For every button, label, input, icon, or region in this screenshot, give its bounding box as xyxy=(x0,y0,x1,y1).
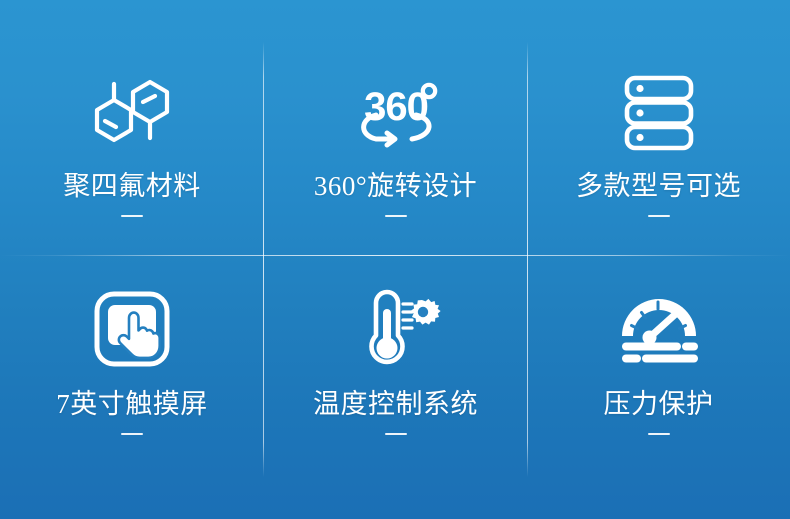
feature-title: 多款型号可选 xyxy=(576,172,741,202)
feature-cell-temperature-control[interactable]: 温度控制系统 xyxy=(264,260,527,519)
feature-cell-ptfe-material[interactable]: 聚四氟材料 xyxy=(0,0,264,260)
feature-grid-container: 聚四氟材料 360 360°旋转设计 xyxy=(0,0,790,519)
feature-underline-dash xyxy=(121,433,143,435)
360-rotation-icon: 360 xyxy=(348,72,444,154)
feature-underline-dash xyxy=(648,433,670,435)
thermometer-gear-icon xyxy=(348,288,444,370)
feature-cell-rotation-design[interactable]: 360 360°旋转设计 xyxy=(264,0,527,260)
feature-underline-dash xyxy=(121,215,143,217)
feature-title: 温度控制系统 xyxy=(313,390,478,420)
feature-underline-dash xyxy=(385,433,407,435)
server-stack-icon xyxy=(611,72,707,154)
feature-cell-touch-screen[interactable]: 7英寸触摸屏 xyxy=(0,260,264,519)
feature-title: 压力保护 xyxy=(604,390,714,420)
touchscreen-hand-icon xyxy=(84,288,180,370)
feature-cell-model-options[interactable]: 多款型号可选 xyxy=(527,0,790,260)
svg-text:360: 360 xyxy=(364,85,428,129)
feature-underline-dash xyxy=(648,215,670,217)
feature-cell-pressure-protection[interactable]: 压力保护 xyxy=(527,260,790,519)
feature-title: 7英寸触摸屏 xyxy=(56,390,208,420)
pressure-gauge-icon xyxy=(611,288,707,370)
hexagon-molecule-icon xyxy=(84,72,180,154)
feature-title: 聚四氟材料 xyxy=(63,172,201,202)
feature-title: 360°旋转设计 xyxy=(314,172,477,202)
feature-grid-banner: 聚四氟材料 360 360°旋转设计 xyxy=(0,0,790,519)
feature-underline-dash xyxy=(385,215,407,217)
